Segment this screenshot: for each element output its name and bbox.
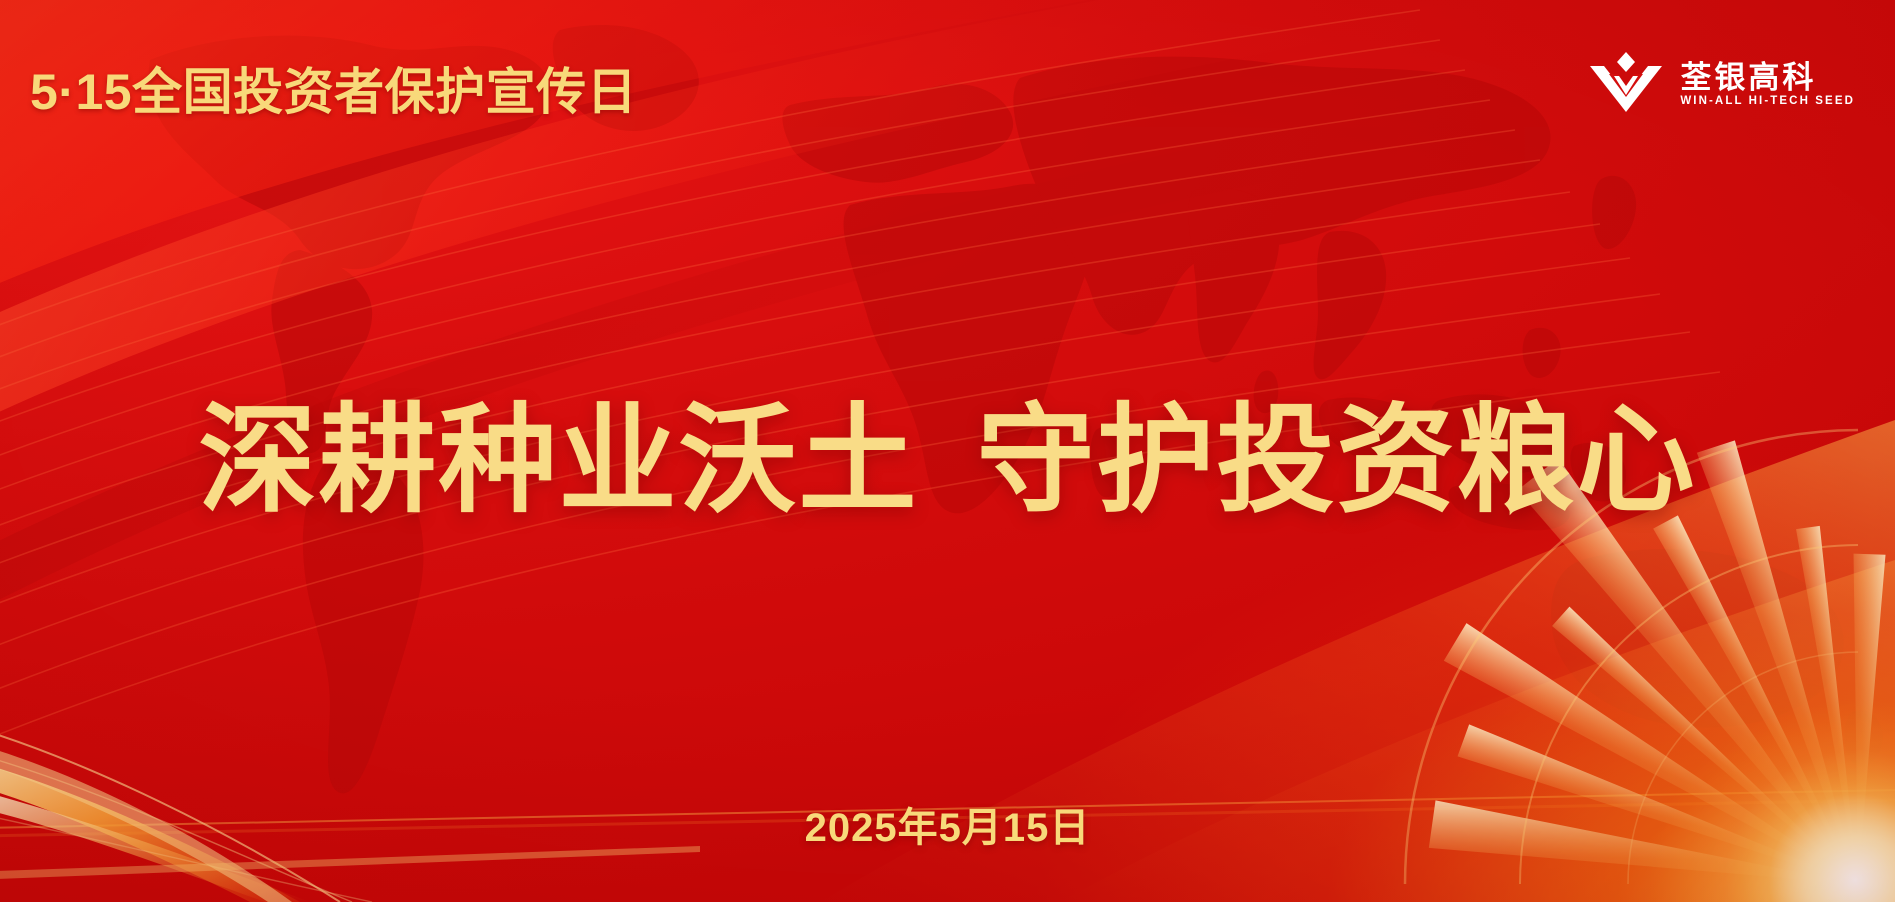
investor-protection-day-poster: 5·15全国投资者保护宣传日 荃银高科 WIN-ALL HI-TECH SEED…	[0, 0, 1895, 902]
logo-company-name-cn: 荃银高科	[1680, 62, 1855, 93]
title-part-1: 深耕种业沃土	[198, 395, 918, 527]
campaign-headline: 5·15全国投资者保护宣传日	[30, 52, 637, 124]
chevron-diamond-logo-icon	[1588, 50, 1664, 119]
event-date: 2025年5月15日	[0, 795, 1895, 853]
company-logo[interactable]: 荃银高科 WIN-ALL HI-TECH SEED	[1588, 50, 1855, 119]
title-part-2: 守护投资粮心	[977, 395, 1697, 527]
page-title: 深耕种业沃土守护投资粮心	[0, 398, 1895, 525]
logo-text: 荃银高科 WIN-ALL HI-TECH SEED	[1680, 62, 1855, 108]
logo-company-name-en: WIN-ALL HI-TECH SEED	[1680, 96, 1855, 108]
